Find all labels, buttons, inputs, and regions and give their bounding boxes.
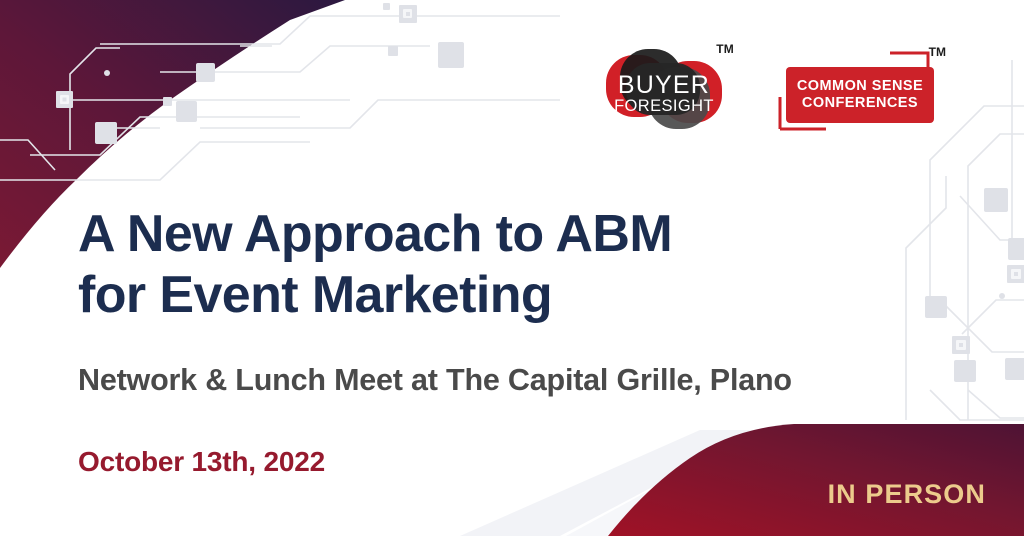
logo-row: BUYER FORESIGHT TM COMMON SENSE CONFEREN… — [600, 36, 1000, 142]
common-sense-wordmark-box: COMMON SENSE CONFERENCES — [786, 67, 934, 123]
common-sense-line1: COMMON SENSE — [797, 78, 923, 95]
format-badge-shape — [594, 424, 1024, 536]
buyerforesight-line1: BUYER — [618, 71, 710, 99]
headline-line-1: A New Approach to ABM — [78, 205, 672, 263]
format-badge-label: IN PERSON — [828, 479, 986, 510]
event-promo-banner: BUYER FORESIGHT TM COMMON SENSE CONFEREN… — [0, 0, 1024, 536]
buyerforesight-line2: FORESIGHT — [614, 97, 714, 115]
subtitle: Network & Lunch Meet at The Capital Gril… — [78, 363, 792, 398]
buyerforesight-mark: BUYER FORESIGHT — [600, 41, 728, 137]
common-sense-line2: CONFERENCES — [802, 95, 918, 112]
headline: A New Approach to ABM for Event Marketin… — [78, 204, 958, 326]
common-sense-conferences-logo: COMMON SENSE CONFERENCES TM — [772, 41, 952, 137]
buyerforesight-logo: BUYER FORESIGHT TM — [600, 41, 728, 137]
event-date: October 13th, 2022 — [78, 446, 325, 478]
format-badge: IN PERSON — [594, 424, 1024, 536]
trademark-symbol: TM — [929, 45, 946, 59]
headline-line-2: for Event Marketing — [78, 265, 958, 326]
trademark-symbol: TM — [716, 42, 734, 56]
